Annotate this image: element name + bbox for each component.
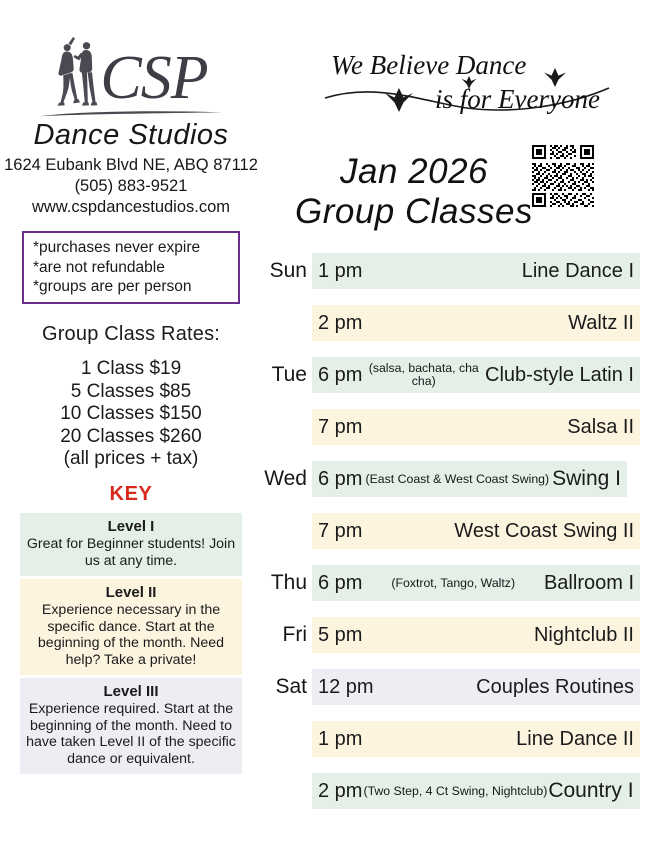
row-day xyxy=(262,773,307,809)
row-time: 7 pm xyxy=(318,416,362,439)
row-bar: 12 pm Couples Routines xyxy=(312,669,640,705)
studio-subtitle: Dance Studios xyxy=(33,119,228,152)
tagline-line-2: is for Everyone xyxy=(435,84,600,114)
row-day: Tue xyxy=(262,357,307,393)
rates-title: Group Class Rates: xyxy=(42,323,220,346)
tagline-banner: We Believe Dance is for Everyone xyxy=(317,44,647,122)
rate-item: 1 Class $19 xyxy=(60,358,202,380)
key-level-2: Level II Experience necessary in the spe… xyxy=(20,579,242,675)
row-day xyxy=(262,409,307,445)
logo-underline-swoosh xyxy=(38,109,224,118)
row-bar: 2 pm (Two Step, 4 Ct Swing, Nightclub) C… xyxy=(312,773,640,809)
level-description: Great for Beginner students! Join us at … xyxy=(26,536,236,569)
row-bar: 6 pm (Foxtrot, Tango, Waltz) Ballroom I xyxy=(312,565,640,601)
key-level-1: Level I Great for Beginner students! Joi… xyxy=(20,513,242,576)
row-note: (Foxtrot, Tango, Waltz) xyxy=(362,577,544,590)
row-time: 7 pm xyxy=(318,520,362,543)
level-name: Level I xyxy=(26,518,236,535)
schedule-row[interactable]: Sun 1 pm Line Dance I xyxy=(262,253,650,289)
studio-phone: (505) 883-9521 xyxy=(4,176,258,197)
row-bar: 2 pm Waltz II xyxy=(312,305,640,341)
policy-line-2: *are not refundable xyxy=(33,258,229,277)
row-class: West Coast Swing II xyxy=(454,520,634,543)
schedule-row[interactable]: 2 pm Waltz II xyxy=(262,305,650,341)
row-time: 1 pm xyxy=(318,260,362,283)
tagline-artwork: We Believe Dance is for Everyone xyxy=(317,44,647,122)
row-day xyxy=(262,721,307,757)
row-bar: 5 pm Nightclub II xyxy=(312,617,640,653)
row-class: Line Dance II xyxy=(516,728,634,751)
title-month: Jan 2026 xyxy=(280,152,548,192)
row-day xyxy=(262,513,307,549)
schedule-row[interactable]: 7 pm Salsa II xyxy=(262,409,650,445)
rate-item: (all prices + tax) xyxy=(60,448,202,470)
schedule-row[interactable]: Tue 6 pm (salsa, bachata, cha cha) Club-… xyxy=(262,357,650,393)
level-name: Level III xyxy=(26,683,236,700)
row-bar: 7 pm Salsa II xyxy=(312,409,640,445)
row-day: Fri xyxy=(262,617,307,653)
row-note: (East Coast & West Coast Swing) xyxy=(362,473,552,486)
schedule-row[interactable]: 1 pm Line Dance II xyxy=(262,721,650,757)
row-time: 2 pm xyxy=(318,312,362,335)
key-level-3: Level III Experience required. Start at … xyxy=(20,678,242,774)
dancers-silhouette-icon xyxy=(54,34,106,108)
row-time: 1 pm xyxy=(318,728,362,751)
schedule-column: We Believe Dance is for Everyone Jan 202… xyxy=(262,0,650,841)
level-name: Level II xyxy=(26,584,236,601)
page-title: Jan 2026 Group Classes xyxy=(280,152,548,231)
row-note: (salsa, bachata, cha cha) xyxy=(362,362,485,388)
row-time: 6 pm xyxy=(318,468,362,491)
row-class: Salsa II xyxy=(567,416,634,439)
logo-wordmark: CSP xyxy=(100,49,207,108)
row-class: Country I xyxy=(548,779,633,803)
row-note: (Two Step, 4 Ct Swing, Nightclub) xyxy=(362,785,548,798)
row-class: Nightclub II xyxy=(534,624,634,647)
flyer-page: CSP Dance Studios 1624 Eubank Blvd NE, A… xyxy=(0,0,650,841)
row-day: Wed xyxy=(262,461,307,497)
row-day: Sun xyxy=(262,253,307,289)
row-time: 6 pm xyxy=(318,572,362,595)
tagline-line-1: We Believe Dance xyxy=(331,50,526,80)
schedule-row[interactable]: 2 pm (Two Step, 4 Ct Swing, Nightclub) C… xyxy=(262,773,650,809)
key-title: KEY xyxy=(110,483,153,506)
row-bar: 7 pm West Coast Swing II xyxy=(312,513,640,549)
schedule-row[interactable]: Wed 6 pm (East Coast & West Coast Swing)… xyxy=(262,461,650,497)
level-description: Experience necessary in the specific dan… xyxy=(26,602,236,668)
row-class: Ballroom I xyxy=(544,572,634,595)
policy-line-1: *purchases never expire xyxy=(33,238,229,257)
class-schedule: Sun 1 pm Line Dance I 2 pm Waltz II Tue xyxy=(262,253,650,809)
studio-address: 1624 Eubank Blvd NE, ABQ 87112 xyxy=(4,155,258,176)
row-class: Swing I xyxy=(552,467,621,491)
rate-item: 5 Classes $85 xyxy=(60,381,202,403)
row-class: Waltz II xyxy=(568,312,634,335)
policy-box: *purchases never expire *are not refunda… xyxy=(22,231,240,304)
row-bar: 1 pm Line Dance I xyxy=(312,253,640,289)
row-day: Sat xyxy=(262,669,307,705)
row-bar: 6 pm (East Coast & West Coast Swing) Swi… xyxy=(312,461,627,497)
row-class: Line Dance I xyxy=(522,260,634,283)
studio-logo: CSP xyxy=(54,30,207,108)
schedule-row[interactable]: Sat 12 pm Couples Routines xyxy=(262,669,650,705)
row-day xyxy=(262,305,307,341)
rates-list: 1 Class $19 5 Classes $85 10 Classes $15… xyxy=(60,358,202,470)
rate-item: 20 Classes $260 xyxy=(60,426,202,448)
row-time: 2 pm xyxy=(318,780,362,803)
schedule-row[interactable]: 7 pm West Coast Swing II xyxy=(262,513,650,549)
qr-code[interactable] xyxy=(530,143,596,209)
row-time: 5 pm xyxy=(318,624,362,647)
row-day: Thu xyxy=(262,565,307,601)
row-bar: 6 pm (salsa, bachata, cha cha) Club-styl… xyxy=(312,357,640,393)
studio-contact: 1624 Eubank Blvd NE, ABQ 87112 (505) 883… xyxy=(4,155,258,218)
rate-item: 10 Classes $150 xyxy=(60,403,202,425)
row-class: Couples Routines xyxy=(476,676,634,699)
policy-line-3: *groups are per person xyxy=(33,277,229,296)
row-class: Club-style Latin I xyxy=(485,364,634,387)
schedule-row[interactable]: Fri 5 pm Nightclub II xyxy=(262,617,650,653)
studio-website: www.cspdancestudios.com xyxy=(4,197,258,218)
row-time: 6 pm xyxy=(318,364,362,387)
row-time: 12 pm xyxy=(318,676,374,699)
studio-info-column: CSP Dance Studios 1624 Eubank Blvd NE, A… xyxy=(0,30,262,774)
title-subject: Group Classes xyxy=(280,192,548,232)
schedule-row[interactable]: Thu 6 pm (Foxtrot, Tango, Waltz) Ballroo… xyxy=(262,565,650,601)
row-bar: 1 pm Line Dance II xyxy=(312,721,640,757)
level-description: Experience required. Start at the beginn… xyxy=(26,701,236,767)
